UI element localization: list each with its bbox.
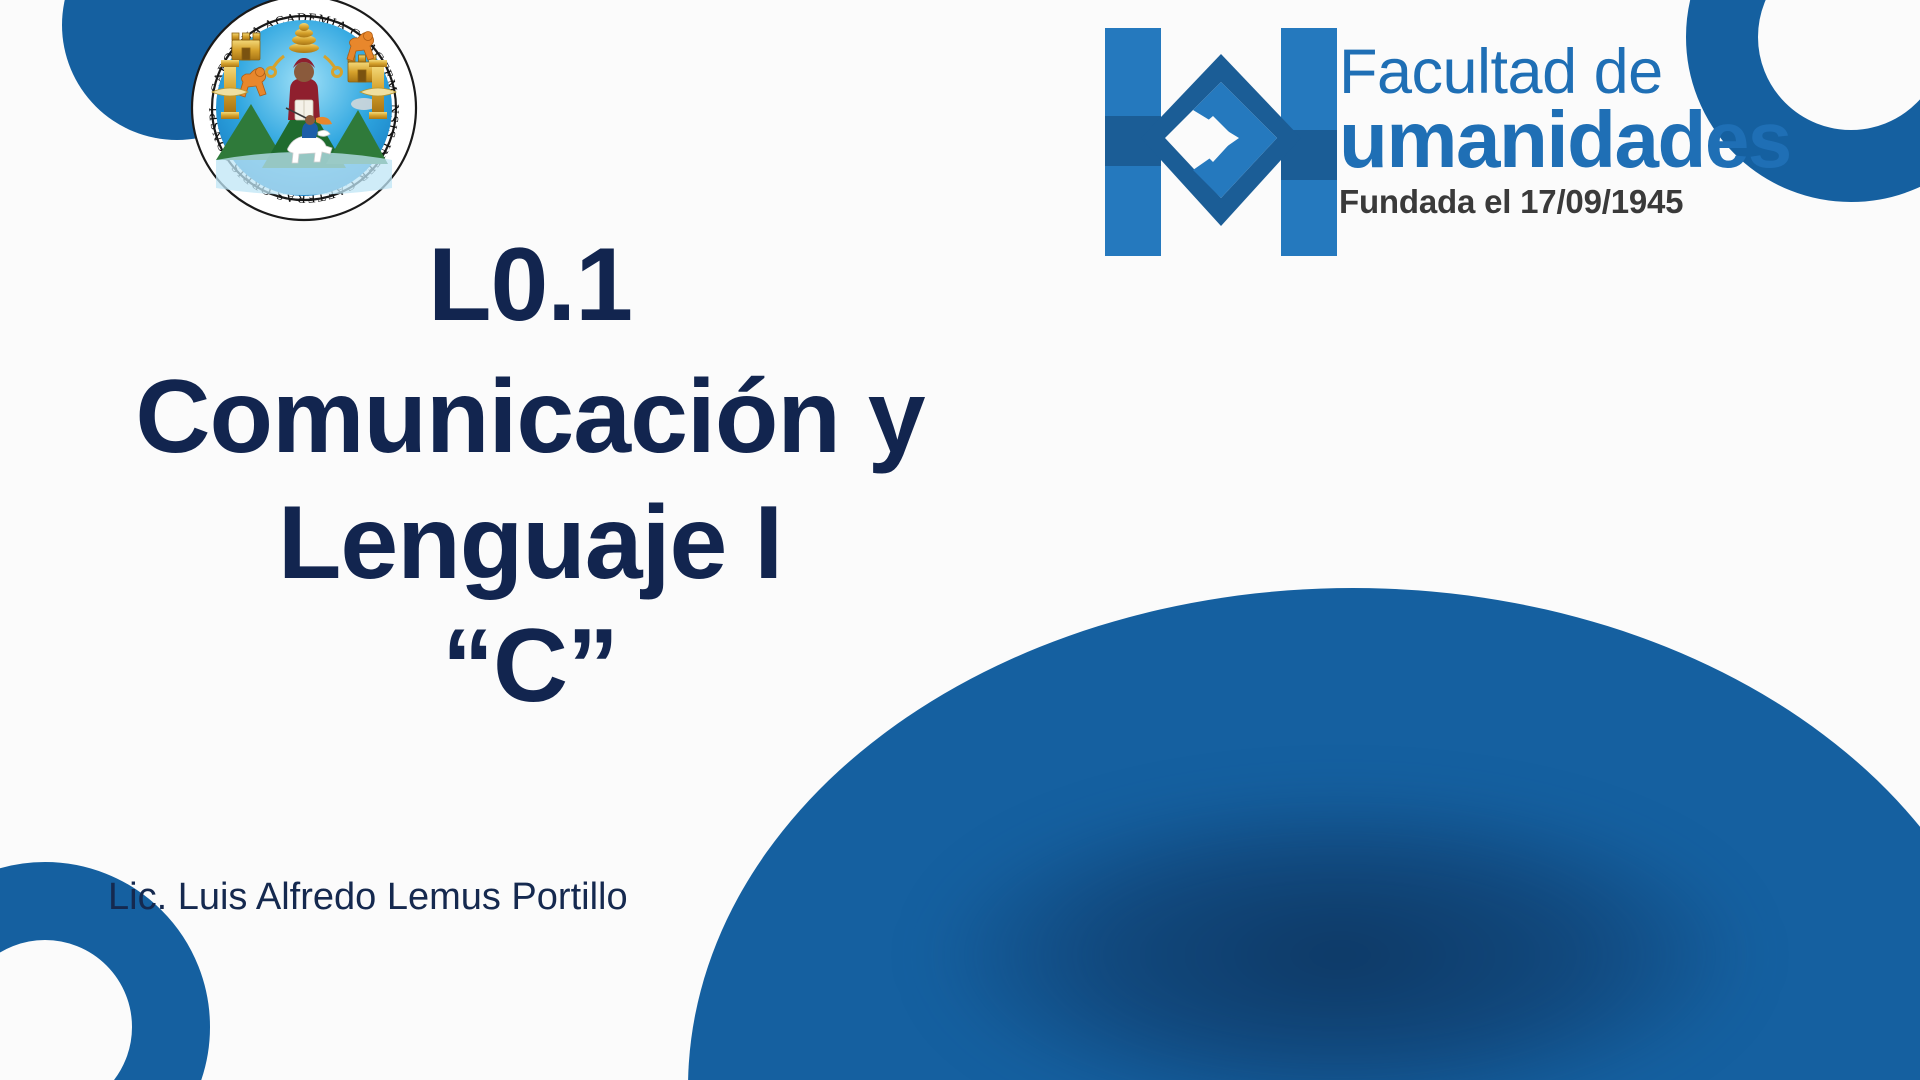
logo-tagline-founded: Fundada el 17/09/1945 xyxy=(1339,183,1791,221)
facultad-humanidades-logo: Facultad de umanidades Fundada el 17/09/… xyxy=(1095,8,1795,276)
facultad-humanidades-wordmark: Facultad de umanidades Fundada el 17/09/… xyxy=(1339,42,1791,221)
usac-seal: CAROLINA ACADEMIA COACTEM ALENSIS INTER … xyxy=(188,0,420,224)
course-title-line-2: Lenguaje I xyxy=(0,488,1060,598)
course-code: L0.1 xyxy=(0,230,1060,340)
humanidades-h-monogram-icon xyxy=(1095,12,1347,270)
course-title-line-1: Comunicación y xyxy=(0,362,1060,472)
title-block: L0.1 Comunicación y Lenguaje I “C” xyxy=(0,230,1060,721)
logo-line-umanidades: umanidades xyxy=(1339,102,1791,179)
instructor-name: Lic. Luis Alfredo Lemus Portillo xyxy=(108,876,628,919)
presentation-title-slide: CAROLINA ACADEMIA COACTEM ALENSIS INTER … xyxy=(0,0,1920,1080)
course-section: “C” xyxy=(0,611,1060,721)
